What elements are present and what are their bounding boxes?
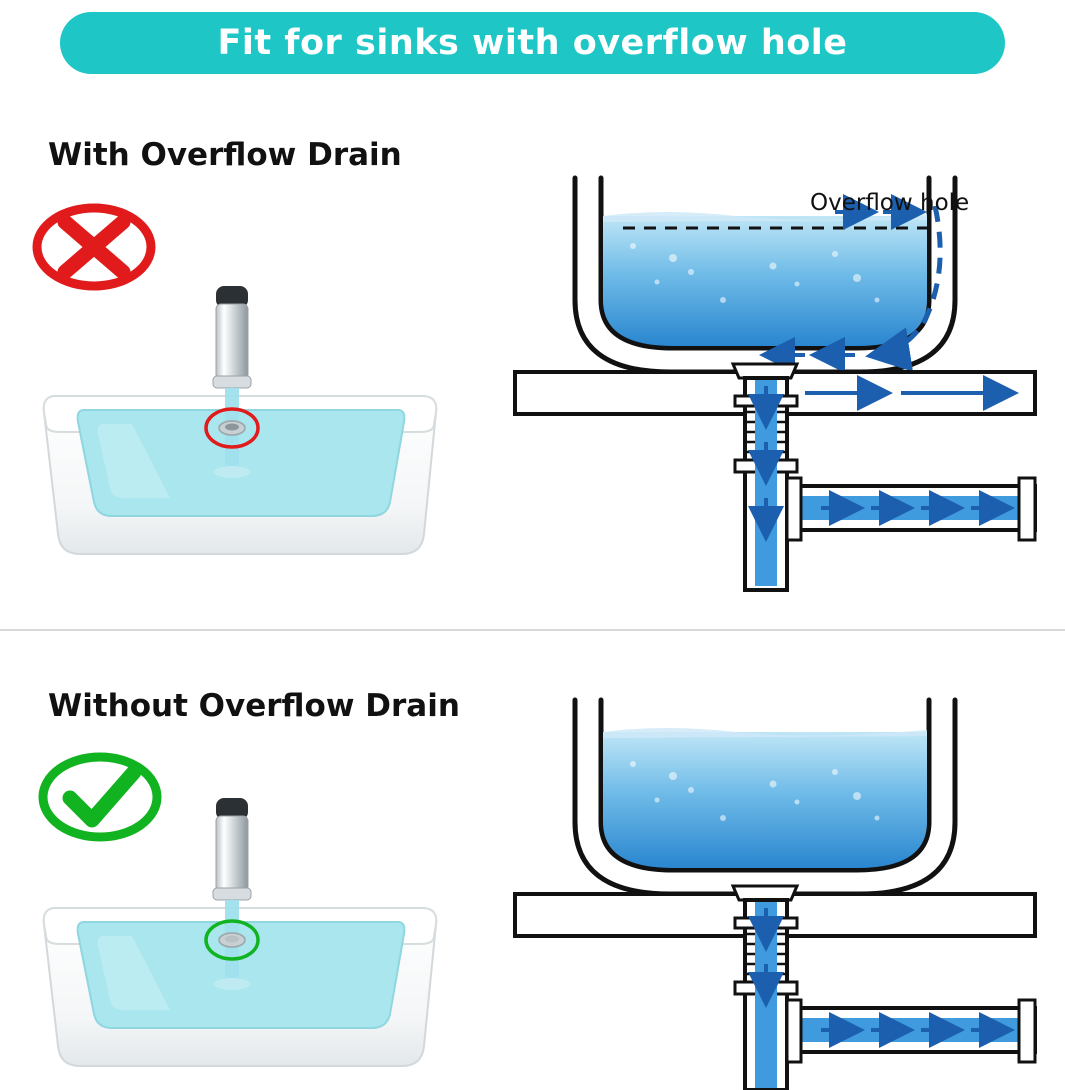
section-title-with-overflow: With Overflow Drain <box>48 137 402 173</box>
sink-illustration-without-overflow <box>20 790 490 1090</box>
cross-section-without-overflow <box>505 672 1065 1082</box>
infographic-root: Fit for sinks with overflow hole With Ov… <box>0 0 1065 1082</box>
section-divider <box>0 629 1065 631</box>
header-banner: Fit for sinks with overflow hole <box>60 12 1005 74</box>
cross-section-with-overflow <box>505 150 1065 580</box>
sink-illustration-with-overflow <box>20 278 490 578</box>
section-title-without-overflow: Without Overflow Drain <box>48 688 460 724</box>
header-banner-text: Fit for sinks with overflow hole <box>217 23 847 63</box>
overflow-hole-label: Overflow hole <box>810 190 969 216</box>
